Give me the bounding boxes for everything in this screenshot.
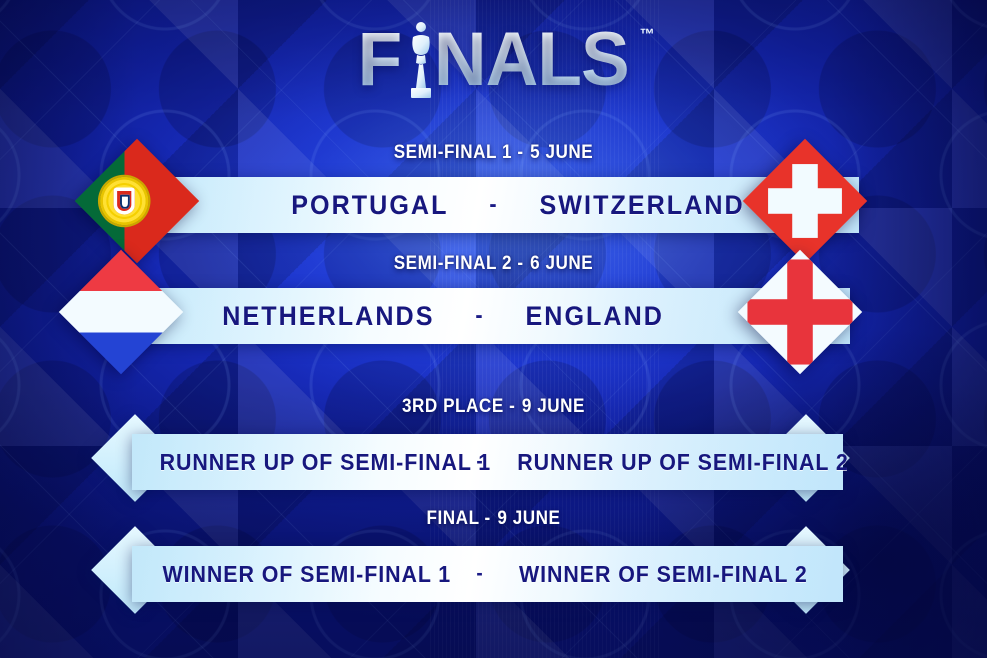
stage-label: 3RD PLACE <box>402 396 504 417</box>
header-separator: - <box>485 508 492 529</box>
match-row-semi-final-1[interactable]: PORTUGAL - SWITZERLAND <box>0 173 987 237</box>
match-row-final[interactable]: WINNER OF SEMI-FINAL 1 - WINNER OF SEMI-… <box>0 542 987 606</box>
match-block-semi-final-1: SEMI-FINAL 1 - 5 JUNE PORTUGAL - SWITZER… <box>0 142 987 237</box>
away-team-name: ENGLAND <box>526 301 805 332</box>
score-dash: - <box>462 191 525 219</box>
match-block-semi-final-2: SEMI-FINAL 2 - 6 JUNE NETHERLANDS - ENGL… <box>0 253 987 348</box>
match-block-final: FINAL - 9 JUNE WINNER OF SEMI-FINAL 1 - … <box>0 508 987 606</box>
header-separator: - <box>517 253 524 274</box>
home-team-name: PORTUGAL <box>169 190 448 221</box>
match-row-third-place[interactable]: RUNNER UP OF SEMI-FINAL 1 - RUNNER UP OF… <box>0 430 987 494</box>
stage-label: SEMI-FINAL 2 <box>394 253 512 274</box>
match-band: RUNNER UP OF SEMI-FINAL 1 - RUNNER UP OF… <box>132 434 843 490</box>
home-team-name: RUNNER UP OF SEMI-FINAL 1 <box>160 449 444 476</box>
home-team-name: NETHERLANDS <box>156 301 435 332</box>
match-teams: NETHERLANDS - ENGLAND <box>110 301 850 332</box>
finals-draw-screen: FNALS ™ SEMI-FINAL 1 - <box>0 0 987 658</box>
match-band: NETHERLANDS - ENGLAND <box>110 288 850 344</box>
match-teams: RUNNER UP OF SEMI-FINAL 1 - RUNNER UP OF… <box>132 449 843 476</box>
match-band: PORTUGAL - SWITZERLAND <box>128 177 859 233</box>
away-team-name: RUNNER UP OF SEMI-FINAL 2 <box>517 449 815 476</box>
score-dash: - <box>455 562 505 586</box>
date-label: 5 JUNE <box>530 142 593 163</box>
date-label: 9 JUNE <box>497 508 560 529</box>
match-row-semi-final-2[interactable]: NETHERLANDS - ENGLAND <box>0 284 987 348</box>
stage-label: FINAL <box>427 508 480 529</box>
stage-label: SEMI-FINAL 1 <box>394 142 512 163</box>
date-label: 6 JUNE <box>530 253 593 274</box>
header-separator: - <box>517 142 524 163</box>
score-dash: - <box>457 450 504 474</box>
away-team-name: SWITZERLAND <box>539 190 818 221</box>
match-band: WINNER OF SEMI-FINAL 1 - WINNER OF SEMI-… <box>132 546 843 602</box>
date-label: 9 JUNE <box>522 396 585 417</box>
home-team-name: WINNER OF SEMI-FINAL 1 <box>163 561 442 588</box>
header-separator: - <box>509 396 516 417</box>
away-team-name: WINNER OF SEMI-FINAL 2 <box>519 561 812 588</box>
match-teams: PORTUGAL - SWITZERLAND <box>128 190 859 221</box>
match-teams: WINNER OF SEMI-FINAL 1 - WINNER OF SEMI-… <box>132 561 843 588</box>
score-dash: - <box>449 302 512 330</box>
match-block-third-place: 3RD PLACE - 9 JUNE RUNNER UP OF SEMI-FIN… <box>0 396 987 494</box>
